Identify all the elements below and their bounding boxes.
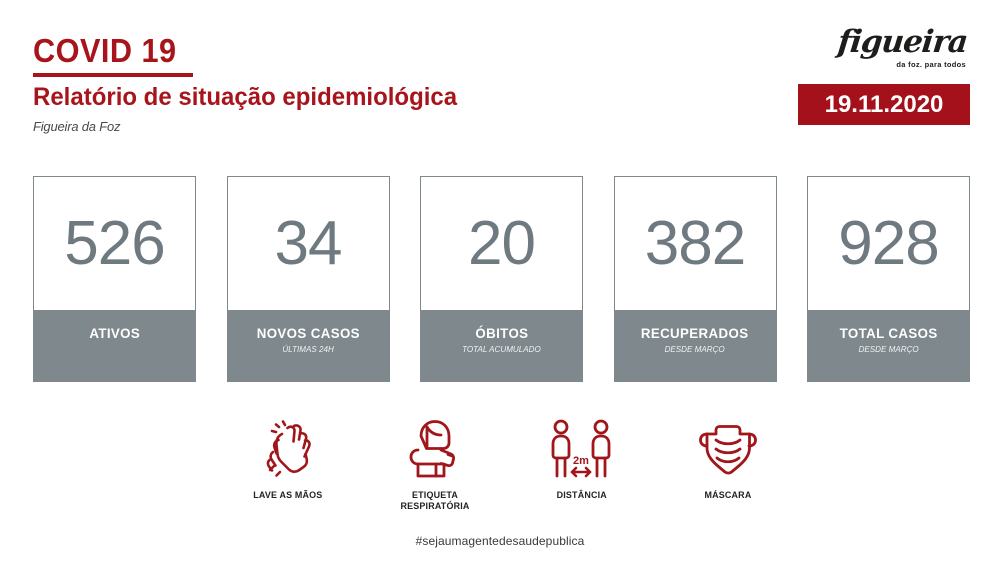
- logo-tagline: da foz. para todos: [835, 60, 970, 69]
- stat-footer: ATIVOS: [33, 311, 196, 382]
- stat-label: RECUPERADOS: [641, 325, 749, 341]
- stat-value: 526: [64, 213, 164, 275]
- report-header: COVID 19 Relatório de situação epidemiol…: [0, 0, 1000, 165]
- report-date-badge: 19.11.2020: [798, 84, 970, 125]
- stat-card-total-casos: 928 TOTAL CASOS DESDE MARÇO: [807, 176, 970, 382]
- stat-label: TOTAL CASOS: [839, 325, 937, 341]
- stat-value-box: 34: [227, 176, 390, 311]
- page-subtitle: Relatório de situação epidemiológica: [33, 84, 457, 112]
- stat-value: 928: [838, 213, 938, 275]
- statistics-cards: 526 ATIVOS 34 NOVOS CASOS ÚLTIMAS 24H 20…: [33, 176, 970, 382]
- stat-sublabel: DESDE MARÇO: [665, 344, 725, 354]
- stat-sublabel: DESDE MARÇO: [858, 344, 918, 354]
- prevention-label: ETIQUETA RESPIRATÓRIA: [378, 490, 491, 512]
- stat-label: ATIVOS: [89, 325, 140, 341]
- stat-footer: NOVOS CASOS ÚLTIMAS 24H: [227, 311, 390, 382]
- stat-card-ativos: 526 ATIVOS: [33, 176, 196, 382]
- figueira-logo: figueira da foz. para todos: [835, 27, 970, 69]
- prevention-measures: LAVE AS MÃOS ETIQUETA RESPIRATÓRIA: [228, 412, 788, 512]
- stat-sublabel: TOTAL ACUMULADO: [462, 344, 541, 354]
- face-mask-icon: [695, 412, 761, 484]
- title-block: COVID 19 Relatório de situação epidemiol…: [33, 34, 475, 134]
- stat-value-box: 928: [807, 176, 970, 311]
- stat-footer: TOTAL CASOS DESDE MARÇO: [807, 311, 970, 382]
- cough-etiquette-icon: [404, 412, 466, 484]
- stat-card-obitos: 20 ÓBITOS TOTAL ACUMULADO: [420, 176, 583, 382]
- stat-value: 20: [468, 213, 535, 275]
- stat-label: ÓBITOS: [475, 325, 528, 341]
- stat-value-box: 382: [614, 176, 777, 311]
- page-title: COVID 19: [33, 34, 444, 69]
- stat-label: NOVOS CASOS: [256, 325, 359, 341]
- stat-value: 34: [275, 213, 342, 275]
- prevention-item-wash-hands: LAVE AS MÃOS: [228, 412, 348, 512]
- stat-footer: RECUPERADOS DESDE MARÇO: [614, 311, 777, 382]
- prevention-label: DISTÂNCIA: [556, 490, 606, 501]
- campaign-hashtag: #sejaumagentedesaudepublica: [0, 534, 1000, 548]
- prevention-item-cough-etiquette: ETIQUETA RESPIRATÓRIA: [375, 412, 495, 512]
- wash-hands-icon: [254, 412, 322, 484]
- prevention-item-distance: 2m DISTÂNCIA: [521, 412, 641, 512]
- stat-value: 382: [645, 213, 745, 275]
- prevention-label: MÁSCARA: [704, 490, 751, 501]
- title-underline-rule: [33, 73, 193, 77]
- logo-wordmark: figueira: [833, 27, 971, 58]
- stat-footer: ÓBITOS TOTAL ACUMULADO: [420, 311, 583, 382]
- stat-card-recuperados: 382 RECUPERADOS DESDE MARÇO: [614, 176, 777, 382]
- stat-sublabel: ÚLTIMAS 24H: [282, 344, 333, 354]
- stat-card-novos-casos: 34 NOVOS CASOS ÚLTIMAS 24H: [227, 176, 390, 382]
- stat-value-box: 526: [33, 176, 196, 311]
- distance-value-text: 2m: [573, 455, 589, 467]
- social-distance-icon: 2m: [548, 412, 614, 484]
- stat-value-box: 20: [420, 176, 583, 311]
- prevention-label: LAVE AS MÃOS: [253, 490, 322, 501]
- location-label: Figueira da Foz: [33, 119, 475, 134]
- prevention-item-mask: MÁSCARA: [668, 412, 788, 512]
